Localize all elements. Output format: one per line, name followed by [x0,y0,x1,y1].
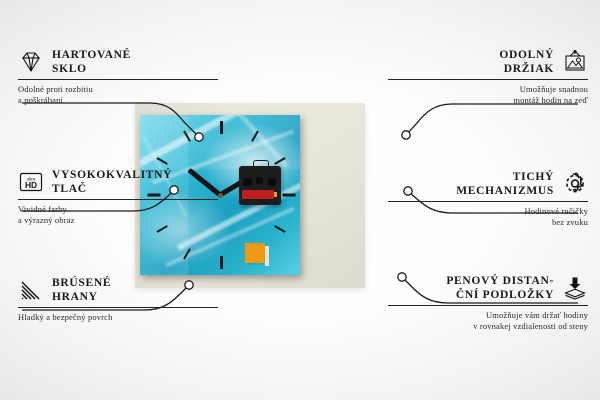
feature-title-2: SKLO [52,62,131,76]
feature-title-2: ČNÍ PODLOŽKY [446,288,554,302]
battery [242,190,274,199]
divider [388,305,588,306]
feature-desc-2: v rovnakej vzdialenosti od steny [388,321,588,332]
feature-title: BRÚSENÉ [52,276,111,290]
feature-title: ODOLNÝ [499,48,554,62]
feature-desc-2: a výrazný obraz [18,215,218,226]
feature-desc-2: a poškrábaní [18,95,218,106]
diamond-icon [18,49,44,75]
feature-silent-mechanism: TICHÝ MECHANIZMUS Hodinové ručičky bez z… [388,170,588,228]
clock-center-pin [218,193,223,198]
gear-icon [562,171,588,197]
foam-spacer-pad [245,243,265,263]
ultra-hd-icon: ultra HD [18,169,44,195]
svg-text:HD: HD [25,180,37,190]
divider [388,201,588,202]
infographic-canvas: HARTOVANÉ SKLO Odolné proti rozbitiu a p… [0,0,600,400]
divider [18,307,218,308]
foam-pad-icon [562,275,588,301]
feature-title-2: DRŽIAK [499,62,554,76]
feature-title-2: MECHANIZMUS [456,184,554,198]
feature-title: VYSOKOKVALITNÝ [52,168,172,182]
feature-desc-2: bez zvuku [388,217,588,228]
feature-polished-edges: BRÚSENÉ HRANY Hladký a bezpečný povrch [18,276,218,323]
brushed-edges-icon [18,277,44,303]
feature-foam-spacers: PENOVÝ DISTAN- ČNÍ PODLOŽKY Umožňuje vám… [388,274,588,332]
feature-desc: Vividné farby [18,204,218,215]
feature-title-2: TLAČ [52,182,172,196]
feature-high-quality-print: ultra HD VYSOKOKVALITNÝ TLAČ Vividné far… [18,168,218,226]
feature-desc-2: montáž hodin na zeď [388,95,588,106]
feature-durable-holder: ODOLNÝ DRŽIAK Umožňuje snadnou montáž ho… [388,48,588,106]
picture-hanger-icon [562,49,588,75]
clock-mechanism [239,166,281,205]
feature-desc: Odolné proti rozbitiu [18,84,218,95]
feature-desc: Hladký a bezpečný povrch [18,312,218,323]
feature-desc: Hodinové ručičky [388,206,588,217]
feature-tempered-glass: HARTOVANÉ SKLO Odolné proti rozbitiu a p… [18,48,218,106]
divider [18,199,218,200]
divider [18,79,218,80]
connector-node-holder [402,131,410,139]
divider [388,79,588,80]
mechanism-hanger [253,160,269,168]
feature-desc: Umožňuje snadnou [388,84,588,95]
feature-title: PENOVÝ DISTAN- [446,274,554,288]
feature-title: TICHÝ [456,170,554,184]
feature-title-2: HRANY [52,290,111,304]
feature-desc: Umožňuje vám držať hodiny [388,310,588,321]
feature-title: HARTOVANÉ [52,48,131,62]
